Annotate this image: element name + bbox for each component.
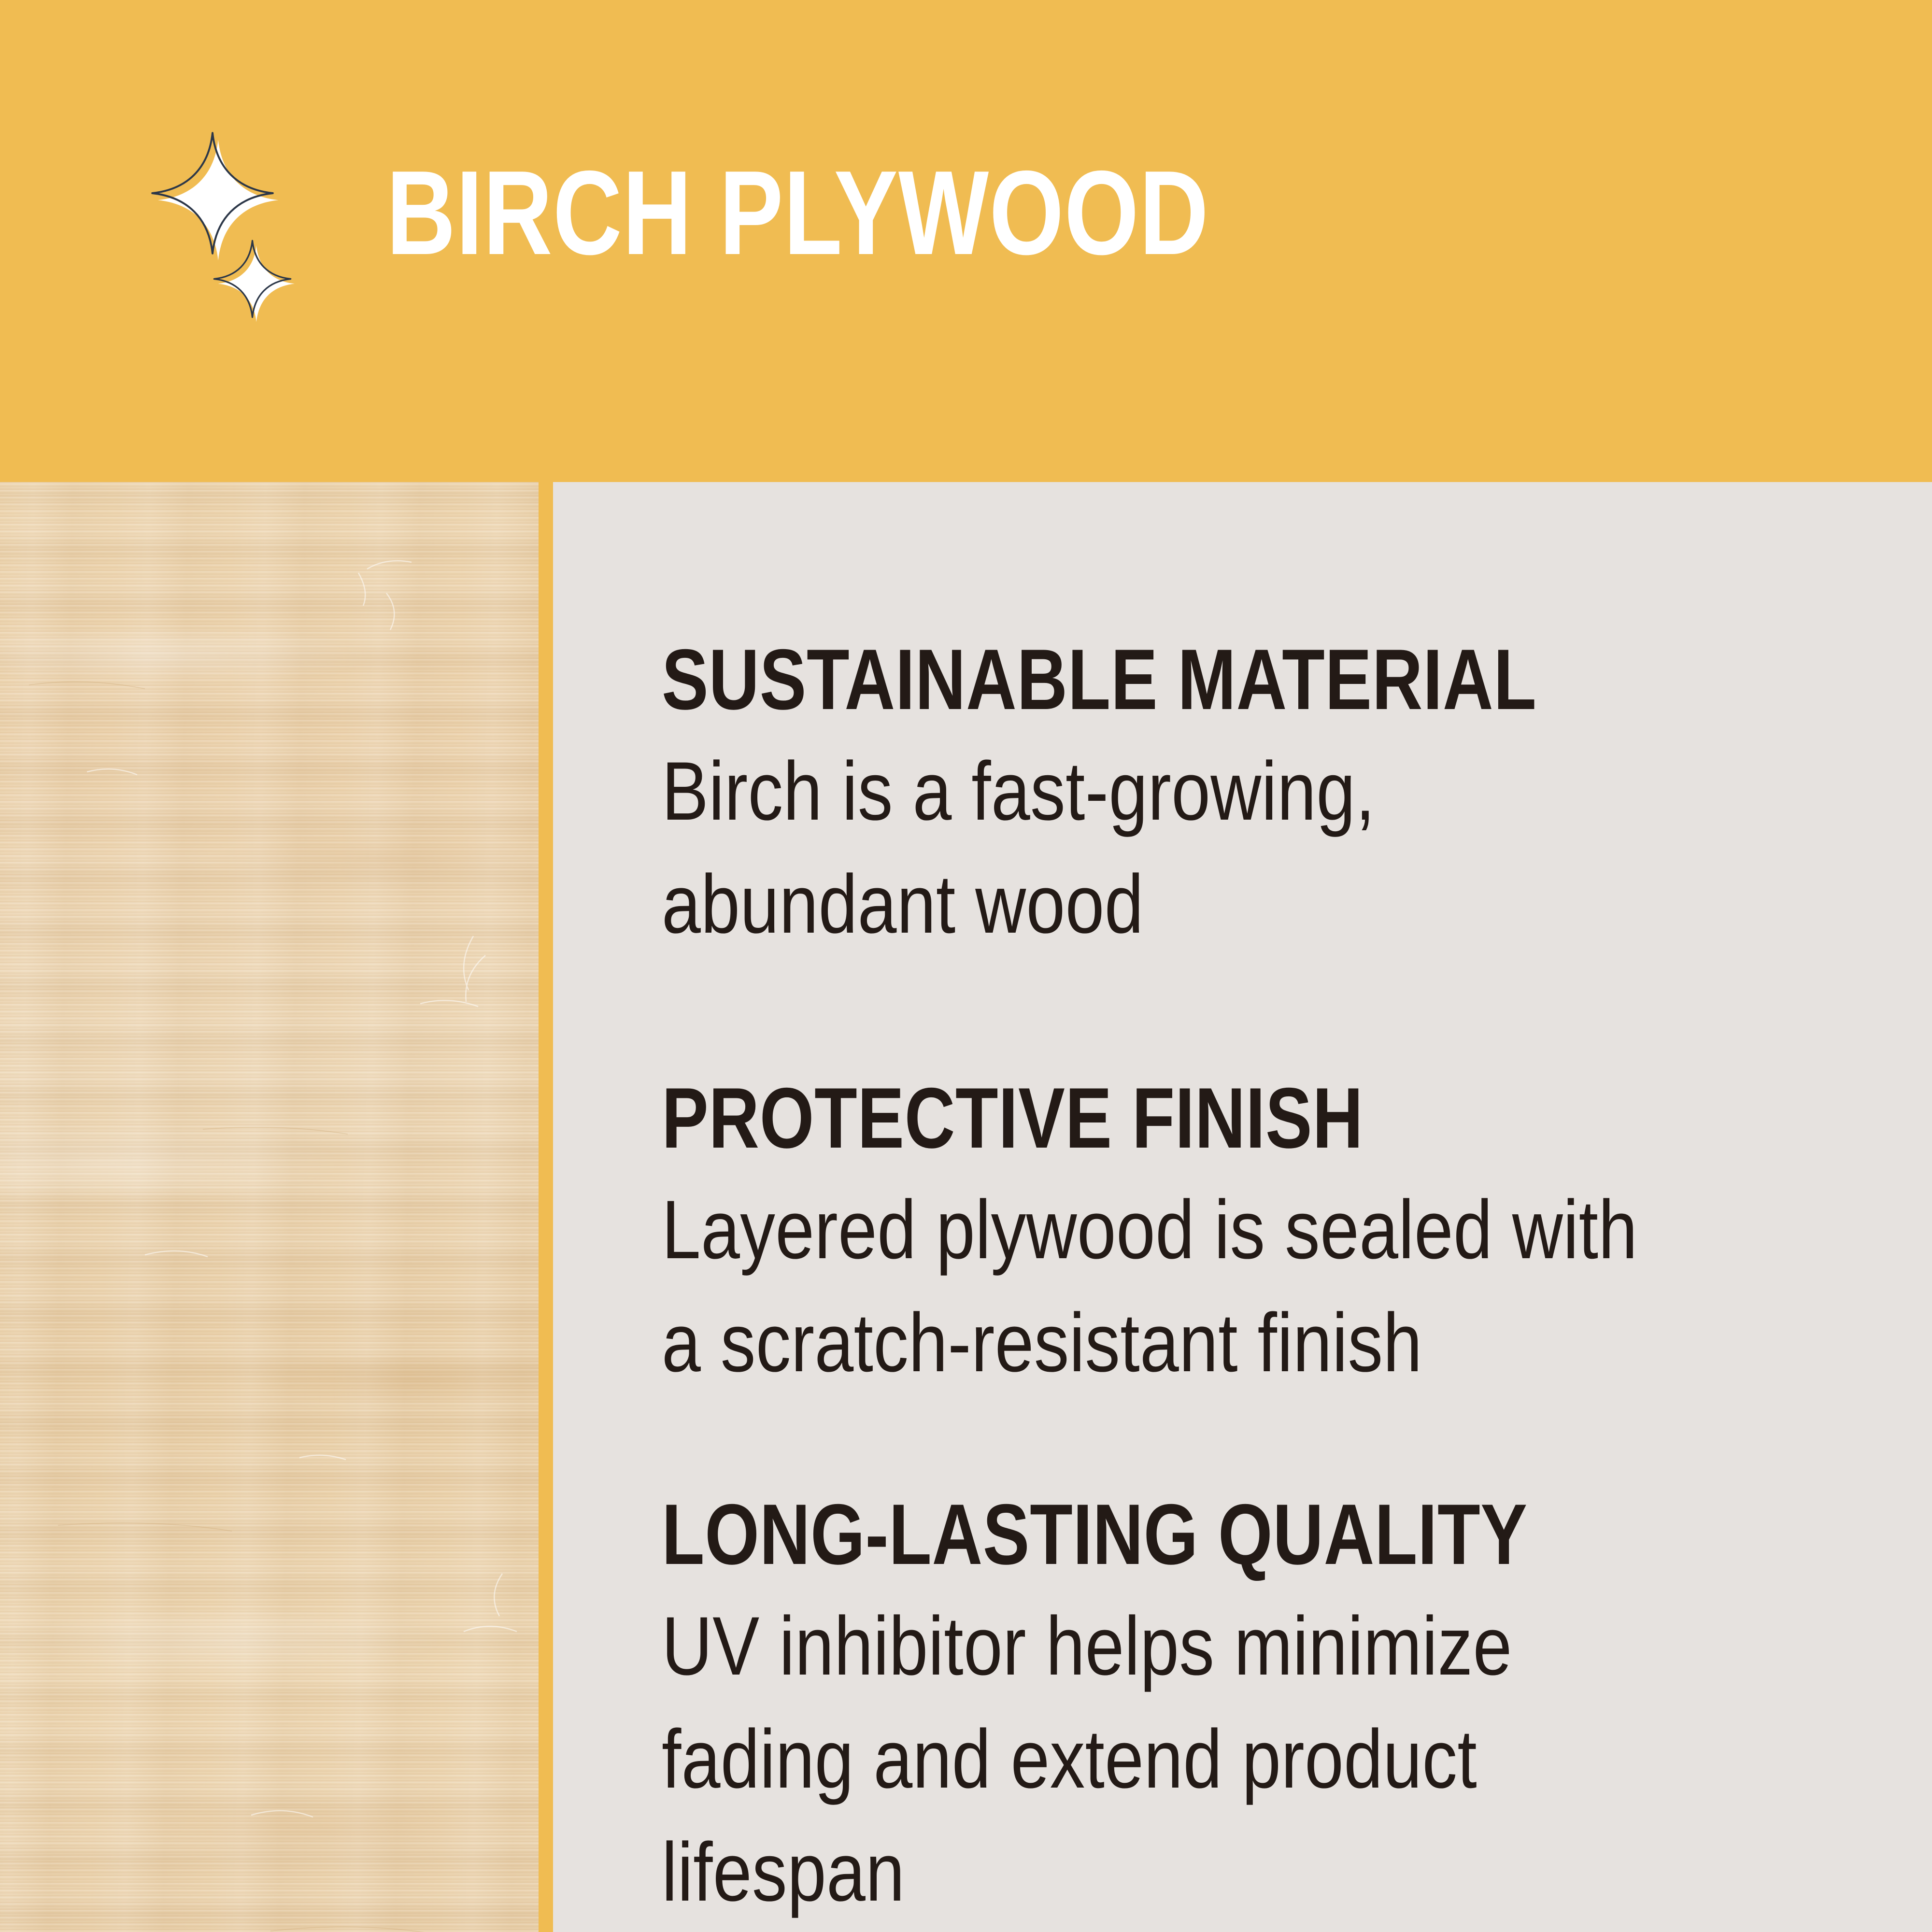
wood-texture-panel — [0, 482, 539, 1932]
sparkle-group — [150, 130, 324, 338]
feature-block: SUSTAINABLE MATERIAL Birch is a fast-gro… — [662, 637, 1898, 961]
sparkle-large-icon — [150, 130, 275, 256]
feature-body: Layered plywood is sealed with a scratch… — [662, 1174, 1706, 1400]
feature-body: UV inhibitor helps minimize fading and e… — [662, 1590, 1706, 1929]
sparkle-small-icon — [213, 239, 292, 319]
header-band: BIRCH PLYWOOD — [0, 0, 1932, 482]
feature-block: PROTECTIVE FINISH Layered plywood is sea… — [662, 1075, 1898, 1400]
product-infographic-canvas: BIRCH PLYWOOD — [0, 0, 1932, 1932]
feature-heading: PROTECTIVE FINISH — [662, 1075, 1669, 1161]
feature-content-panel: SUSTAINABLE MATERIAL Birch is a fast-gro… — [553, 482, 1932, 1932]
feature-heading: SUSTAINABLE MATERIAL — [662, 637, 1669, 723]
wood-scratch-marks — [0, 482, 539, 1932]
feature-body: Birch is a fast-growing, abundant wood — [662, 735, 1706, 961]
page-title: BIRCH PLYWOOD — [386, 153, 1209, 272]
feature-heading: LONG-LASTING QUALITY — [662, 1492, 1669, 1577]
feature-block: LONG-LASTING QUALITY UV inhibitor helps … — [662, 1492, 1898, 1929]
wood-grain-overlay — [0, 482, 539, 1932]
yellow-divider-strip — [539, 482, 553, 1932]
